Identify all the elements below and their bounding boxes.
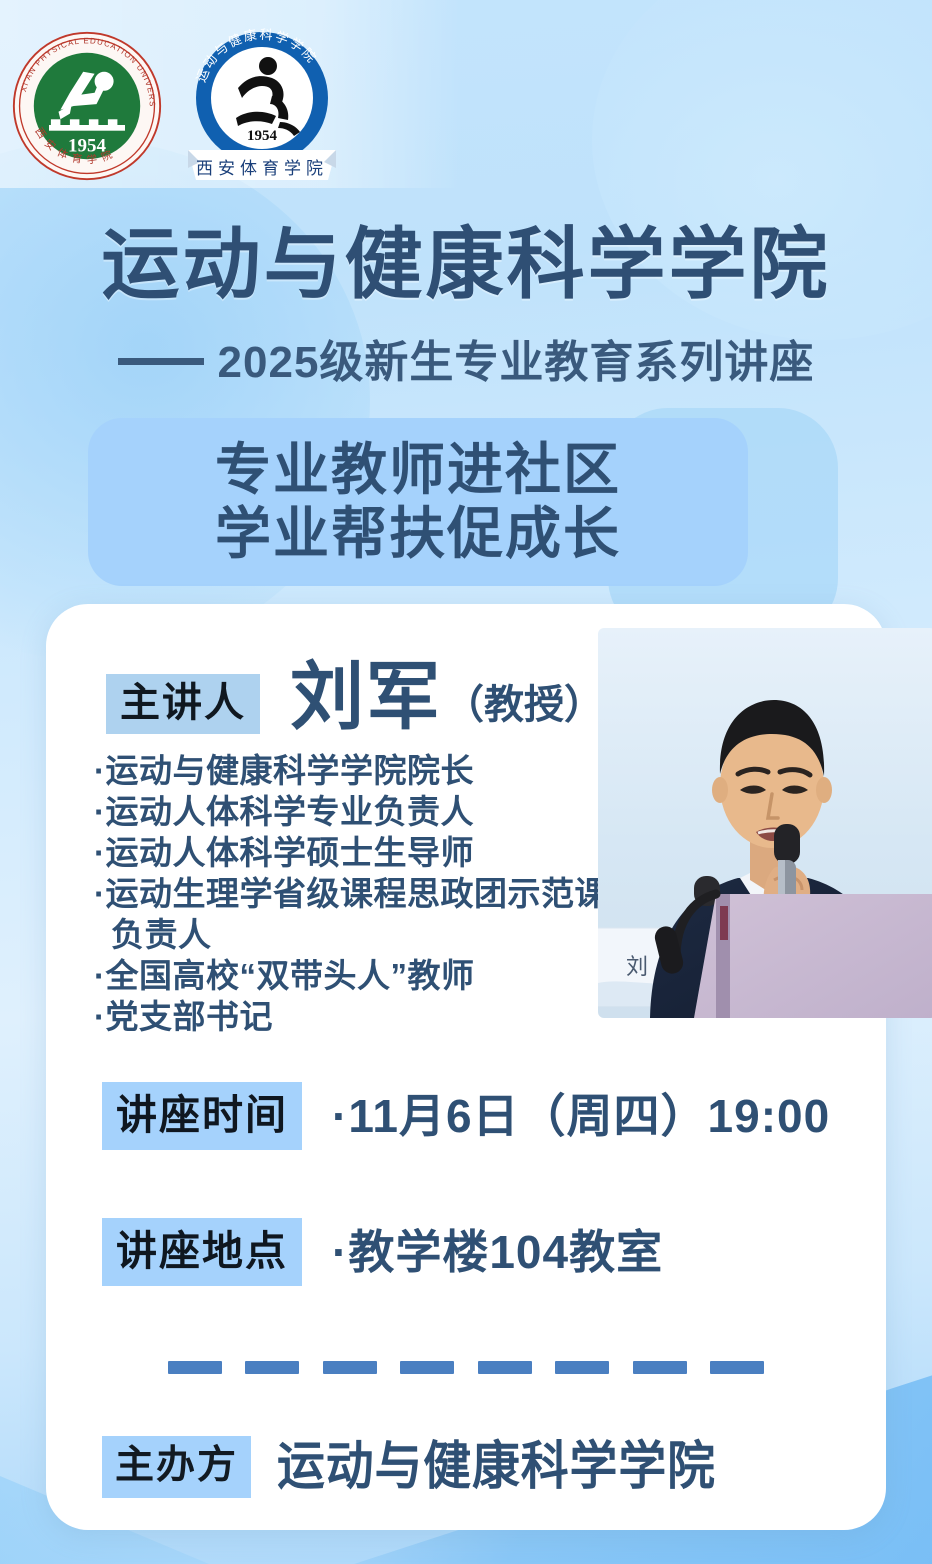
speaker-header: 主讲人 刘军 （教授） xyxy=(106,660,604,734)
logo-band: XI'AN PHYSICAL EDUCATION UNIVERSITY 西安体育… xyxy=(0,0,466,190)
series-subtitle: 2025级新生专业教育系列讲座 xyxy=(0,336,932,390)
theme-line-1: 专业教师进社区 xyxy=(215,438,621,502)
speaker-badge: 主讲人 xyxy=(106,674,260,734)
school-of-exercise-and-health-science-logo: 运动与健康科学学院 1954 西安体育学院 xyxy=(176,22,348,188)
divider-dash xyxy=(478,1361,532,1374)
credential-item-continuation: 负责人 xyxy=(94,914,674,955)
svg-text:刘: 刘 xyxy=(626,954,648,979)
dashed-divider xyxy=(168,1360,764,1374)
lecture-place-label: 讲座地点 xyxy=(102,1218,302,1286)
organizer-row: 主办方 运动与健康科学学院 xyxy=(102,1436,754,1498)
divider-dash xyxy=(168,1361,222,1374)
lecture-time-value: ·11月6日（周四）19:00 xyxy=(332,1091,830,1141)
svg-text:1954: 1954 xyxy=(247,128,278,144)
divider-dash xyxy=(323,1361,377,1374)
divider-dash xyxy=(555,1361,609,1374)
speaker-credentials: ·运动与健康科学学院院长 ·运动人体科学专业负责人 ·运动人体科学硕士生导师 ·… xyxy=(94,750,674,1037)
theme-line-2: 学业帮扶促成长 xyxy=(215,502,621,566)
speaker-academic-title: （教授） xyxy=(444,672,604,730)
lecture-place-value: ·教学楼104教室 xyxy=(332,1227,663,1277)
lecture-time-label: 讲座时间 xyxy=(102,1082,302,1150)
credential-item: ·运动人体科学专业负责人 xyxy=(94,791,674,832)
credential-item: ·运动与健康科学学院院长 xyxy=(94,750,674,791)
organizer-name: 运动与健康科学学院 xyxy=(277,1439,716,1495)
divider-dash xyxy=(400,1361,454,1374)
divider-dash xyxy=(245,1361,299,1374)
page-title: 运动与健康科学学院 xyxy=(0,222,932,306)
divider-dash xyxy=(633,1361,687,1374)
speaker-name: 刘军 xyxy=(290,660,442,734)
content-card: 主讲人 刘军 （教授） ·运动与健康科学学院院长 ·运动人体科学专业负责人 ·运… xyxy=(46,604,886,1530)
subtitle-rule xyxy=(118,358,204,365)
credential-item: ·运动人体科学硕士生导师 xyxy=(94,832,674,873)
credential-item: ·运动生理学省级课程思政团示范课 xyxy=(94,873,674,914)
svg-text:西安体育学院: 西安体育学院 xyxy=(196,159,328,179)
credential-item: ·党支部书记 xyxy=(94,996,674,1037)
organizer-label: 主办方 xyxy=(102,1436,251,1498)
lecture-time-row: 讲座时间 ·11月6日（周四）19:00 xyxy=(102,1082,830,1150)
xian-physical-education-university-logo: XI'AN PHYSICAL EDUCATION UNIVERSITY 西安体育… xyxy=(8,30,166,182)
speaker-photo: 刘 军 xyxy=(598,628,932,1018)
credential-item: ·全国高校“双带头人”教师 xyxy=(94,955,674,996)
divider-dash xyxy=(710,1361,764,1374)
lecture-place-row: 讲座地点 ·教学楼104教室 xyxy=(102,1218,663,1286)
subtitle-text: 2025级新生专业教育系列讲座 xyxy=(218,338,815,387)
theme-box: 专业教师进社区 学业帮扶促成长 xyxy=(88,418,748,586)
svg-text:1954: 1954 xyxy=(68,136,107,157)
